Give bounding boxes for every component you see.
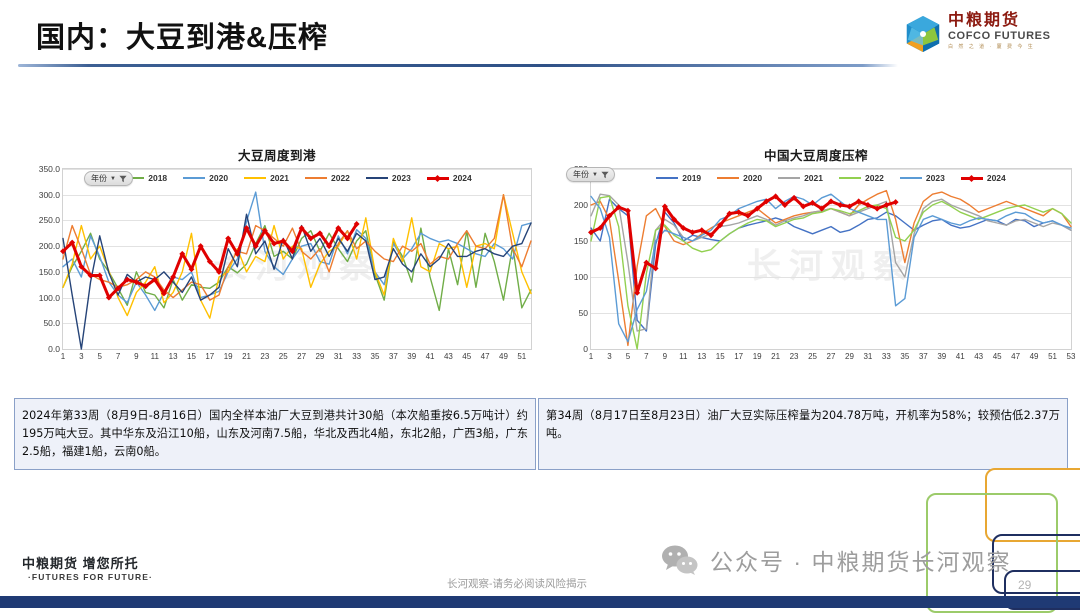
x-axis-tick-label: 3 [607,352,611,361]
note-crush: 第34周（8月17日至8月23日）油厂大豆实际压榨量为204.78万吨，开机率为… [538,398,1068,470]
x-axis-tick-label: 19 [224,352,233,361]
x-axis-tick-label: 27 [827,352,836,361]
y-axis-tick-label: 200 [574,200,588,210]
x-axis-tick-label: 19 [753,352,762,361]
y-axis-tick-label: 100.0 [39,293,60,303]
x-axis-tick-label: 15 [716,352,725,361]
x-axis-tick-label: 9 [663,352,667,361]
x-axis-tick-label: 47 [481,352,490,361]
legend-swatch-icon [244,177,266,179]
plot-area-arrivals: 长河观察 201820202021202220232024 0.050.0100… [62,168,532,350]
legend-item-2023[interactable]: 2023 [366,173,411,183]
title-underline [18,64,898,67]
y-axis-tick-label: 0.0 [48,344,60,354]
legend-swatch-icon [427,177,449,180]
legend-swatch-icon [366,177,388,179]
x-axis-tick-label: 27 [297,352,306,361]
x-axis-tick-label: 3 [79,352,83,361]
y-axis-tick-label: 350.0 [39,164,60,174]
x-axis-tick-label: 5 [97,352,101,361]
plot-area-crush: 长河观察 201920202021202220232024 0501001502… [590,168,1072,350]
x-axis-tick-label: 31 [334,352,343,361]
legend-label: 2022 [331,173,350,183]
legend-swatch-icon [656,177,678,179]
x-axis-tick-label: 11 [679,352,687,361]
legend-label: 2018 [148,173,167,183]
y-axis-tick-label: 150.0 [39,267,60,277]
x-axis-tick-label: 21 [242,352,251,361]
legend-arrivals: 201820202021202220232024 [63,173,531,183]
y-axis-tick-label: 100 [574,272,588,282]
series-line-2024 [591,196,896,292]
slide: 国内：大豆到港&压榨 中粮期货 COFCO FUTURES 白 然 之 道 · … [0,0,1080,608]
x-axis-tick-label: 29 [845,352,854,361]
footer-brand: 中粮期货 增您所托 ·FUTURES FOR FUTURE· [22,556,153,583]
chart-soybean-arrivals: 大豆周度到港 年份 ▼ 长河观察 20182020202120222023202… [22,145,532,350]
footer-brand-cn: 中粮期货 增您所托 [22,556,153,572]
x-axis-tick-label: 41 [956,352,965,361]
legend-item-2021[interactable]: 2021 [244,173,289,183]
x-axis-tick-label: 23 [790,352,799,361]
series-line-2020 [63,192,531,310]
x-axis-tick-label: 39 [407,352,416,361]
legend-crush: 201920202021202220232024 [591,173,1071,183]
y-axis-tick-label: 150 [574,236,588,246]
x-axis-tick-label: 45 [993,352,1002,361]
x-axis-tick-label: 51 [517,352,526,361]
x-axis-tick-label: 53 [1067,352,1076,361]
y-axis-tick-label: 50.0 [43,318,60,328]
x-axis-tick-label: 5 [626,352,630,361]
y-axis-tick-label: 50 [579,308,588,318]
x-axis-tick-label: 41 [426,352,435,361]
x-axis-tick-label: 35 [371,352,380,361]
chevron-down-icon: ▼ [592,172,598,178]
chevron-down-icon: ▼ [110,176,116,182]
year-filter-button-left[interactable]: 年份 ▼ [84,171,133,186]
footer-disclaimer: 长河观察-请务必阅读风险揭示 [447,576,587,591]
year-filter-button-right[interactable]: 年份 ▼ [566,167,615,182]
page-number: 29 [1018,578,1031,592]
legend-swatch-icon [305,177,327,179]
series-layer [591,169,1071,349]
series-layer [63,169,531,349]
x-axis-tick-label: 17 [205,352,214,361]
legend-swatch-icon [717,177,739,179]
x-axis-tick-label: 43 [444,352,453,361]
legend-label: 2020 [209,173,228,183]
page-title: 国内：大豆到港&压榨 [36,14,328,56]
x-axis-tick-label: 51 [1048,352,1057,361]
funnel-icon [119,175,127,183]
year-filter-label-right: 年份 [573,169,589,180]
legend-item-2024[interactable]: 2024 [961,173,1006,183]
cofco-cube-icon [904,14,942,54]
x-axis-tick-label: 47 [1011,352,1020,361]
footer-brand-en: ·FUTURES FOR FUTURE· [22,572,153,583]
legend-label: 2019 [682,173,701,183]
x-axis-tick-label: 49 [1030,352,1039,361]
x-axis: 1357911131517192123252729313335373941434… [63,349,531,365]
legend-label: 2023 [392,173,411,183]
x-axis-tick-label: 25 [808,352,817,361]
y-axis-tick-label: 250.0 [39,215,60,225]
x-axis-tick-label: 29 [315,352,324,361]
x-axis-tick-label: 37 [389,352,398,361]
x-axis-tick-label: 39 [937,352,946,361]
legend-label: 2020 [743,173,762,183]
x-axis-tick-label: 11 [151,352,159,361]
wechat-label: 公众号 · 中粮期货长河观察 [710,543,1011,577]
legend-item-2022[interactable]: 2022 [839,173,884,183]
x-axis-tick-label: 45 [462,352,471,361]
legend-item-2022[interactable]: 2022 [305,173,350,183]
bottom-bar [0,596,1080,608]
x-axis-tick-label: 21 [771,352,780,361]
wechat-row: 公众号 · 中粮期货长河观察 [660,543,1011,577]
legend-item-2021[interactable]: 2021 [778,173,823,183]
logo-name-en: COFCO FUTURES [948,30,1051,43]
logo-name-cn: 中粮期货 [948,12,1051,30]
x-axis-tick-label: 7 [644,352,648,361]
legend-swatch-icon [900,177,922,179]
x-axis-tick-label: 23 [260,352,269,361]
wechat-icon [660,545,700,575]
x-axis-tick-label: 9 [134,352,138,361]
x-axis-tick-label: 33 [352,352,361,361]
legend-label: 2024 [987,173,1006,183]
year-filter-label: 年份 [91,173,107,184]
x-axis-tick-label: 13 [169,352,178,361]
legend-item-2024[interactable]: 2024 [427,173,472,183]
x-axis-tick-label: 37 [919,352,928,361]
legend-swatch-icon [778,177,800,179]
legend-swatch-icon [183,177,205,179]
x-axis: 1357911131517192123252729313335373941434… [591,349,1071,365]
legend-item-2023[interactable]: 2023 [900,173,945,183]
x-axis-tick-label: 49 [499,352,508,361]
x-axis-tick-label: 43 [974,352,983,361]
legend-swatch-icon [961,177,983,180]
x-axis-tick-label: 15 [187,352,196,361]
x-axis-tick-label: 35 [900,352,909,361]
legend-label: 2023 [926,173,945,183]
funnel-icon [601,171,609,179]
chart-title-crush: 中国大豆周度压榨 [560,145,1072,164]
x-axis-tick-label: 25 [279,352,288,361]
legend-label: 2024 [453,173,472,183]
x-axis-tick-label: 13 [697,352,706,361]
y-axis-tick-label: 0 [583,344,588,354]
legend-label: 2022 [865,173,884,183]
legend-item-2020[interactable]: 2020 [183,173,228,183]
logo-tagline: 白 然 之 道 · 厦 费 今 生 [948,43,1051,51]
legend-label: 2021 [270,173,289,183]
x-axis-tick-label: 1 [61,352,65,361]
x-axis-tick-label: 7 [116,352,120,361]
legend-label: 2021 [804,173,823,183]
chart-title-arrivals: 大豆周度到港 [22,145,532,164]
x-axis-tick-label: 17 [734,352,743,361]
x-axis-tick-label: 1 [589,352,593,361]
x-axis-tick-label: 33 [882,352,891,361]
x-axis-tick-label: 31 [863,352,872,361]
y-axis-tick-label: 300.0 [39,190,60,200]
cofco-logo: 中粮期货 COFCO FUTURES 白 然 之 道 · 厦 费 今 生 [902,12,1062,56]
y-axis-tick-label: 200.0 [39,241,60,251]
legend-item-2020[interactable]: 2020 [717,173,762,183]
legend-item-2019[interactable]: 2019 [656,173,701,183]
chart-soybean-crush: 中国大豆周度压榨 年份 ▼ 长河观察 201920202021202220232… [560,145,1072,350]
note-arrivals: 2024年第33周（8月9日-8月16日）国内全样本油厂大豆到港共计30船（本次… [14,398,536,470]
legend-swatch-icon [839,177,861,179]
